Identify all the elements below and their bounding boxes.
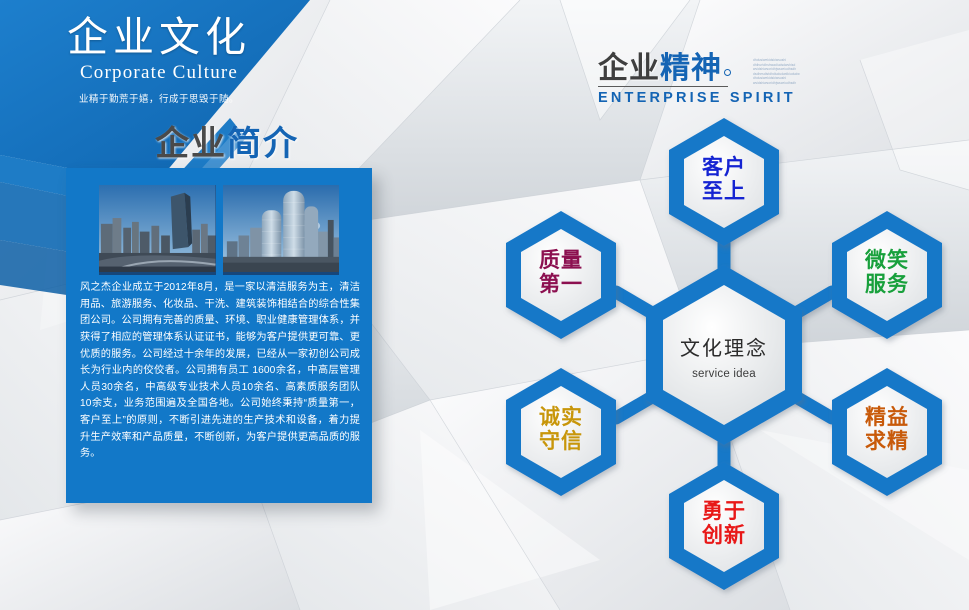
spirit-heading-en: ENTERPRISE SPIRIT	[598, 90, 828, 106]
hex-ring-lower-left	[506, 368, 616, 496]
hex-ring-top	[669, 118, 779, 246]
enterprise-spirit-heading: 企业精神 ENTERPRISE SPIRIT dhdusiwekidskiwsu…	[598, 54, 828, 106]
company-intro-body: 风之杰企业成立于2012年8月，是一家以清洁服务为主，清洁用品、旅游服务、化妆品…	[80, 280, 360, 463]
hex-ring-lower-right	[832, 368, 942, 496]
hex-ring-upper-right	[832, 211, 942, 339]
spirit-heading-blue: 精神	[660, 52, 722, 85]
center-label-cn: 文化理念	[624, 332, 824, 361]
card-photo-row	[99, 185, 339, 275]
heading-underline-divider	[598, 86, 728, 87]
culture-hexagon-diagram: 文化理念 service idea 客户 至上 微笑 服务 精益 求精 勇于 创…	[480, 110, 969, 600]
circle-dot-icon	[724, 69, 731, 76]
hex-ring-upper-left	[506, 211, 616, 339]
hex-ring-bottom	[669, 462, 779, 590]
decor-line: wsidshiwsoridhjwsceiudhsdh	[753, 81, 825, 86]
company-intro-card: 风之杰企业成立于2012年8月，是一家以清洁服务为主，清洁用品、旅游服务、化妆品…	[66, 168, 372, 503]
center-label-en: service idea	[624, 368, 824, 380]
spirit-heading-dark: 企业	[598, 52, 660, 85]
poster-canvas: 企业文化 Corporate Culture 业精于勤荒于嬉，行成于思毁于随。 …	[0, 0, 969, 610]
decorative-microtext: dhdusiwekidskiwsushi dhihurtdhshwadiudsd…	[753, 58, 825, 88]
skyscraper-towers-photo	[223, 185, 340, 275]
intro-heading-dark: 企业	[155, 125, 227, 163]
cityscape-skyline-photo	[99, 185, 216, 275]
intro-heading-blue: 简介	[227, 125, 299, 163]
company-intro-heading: 企业简介	[155, 116, 299, 165]
